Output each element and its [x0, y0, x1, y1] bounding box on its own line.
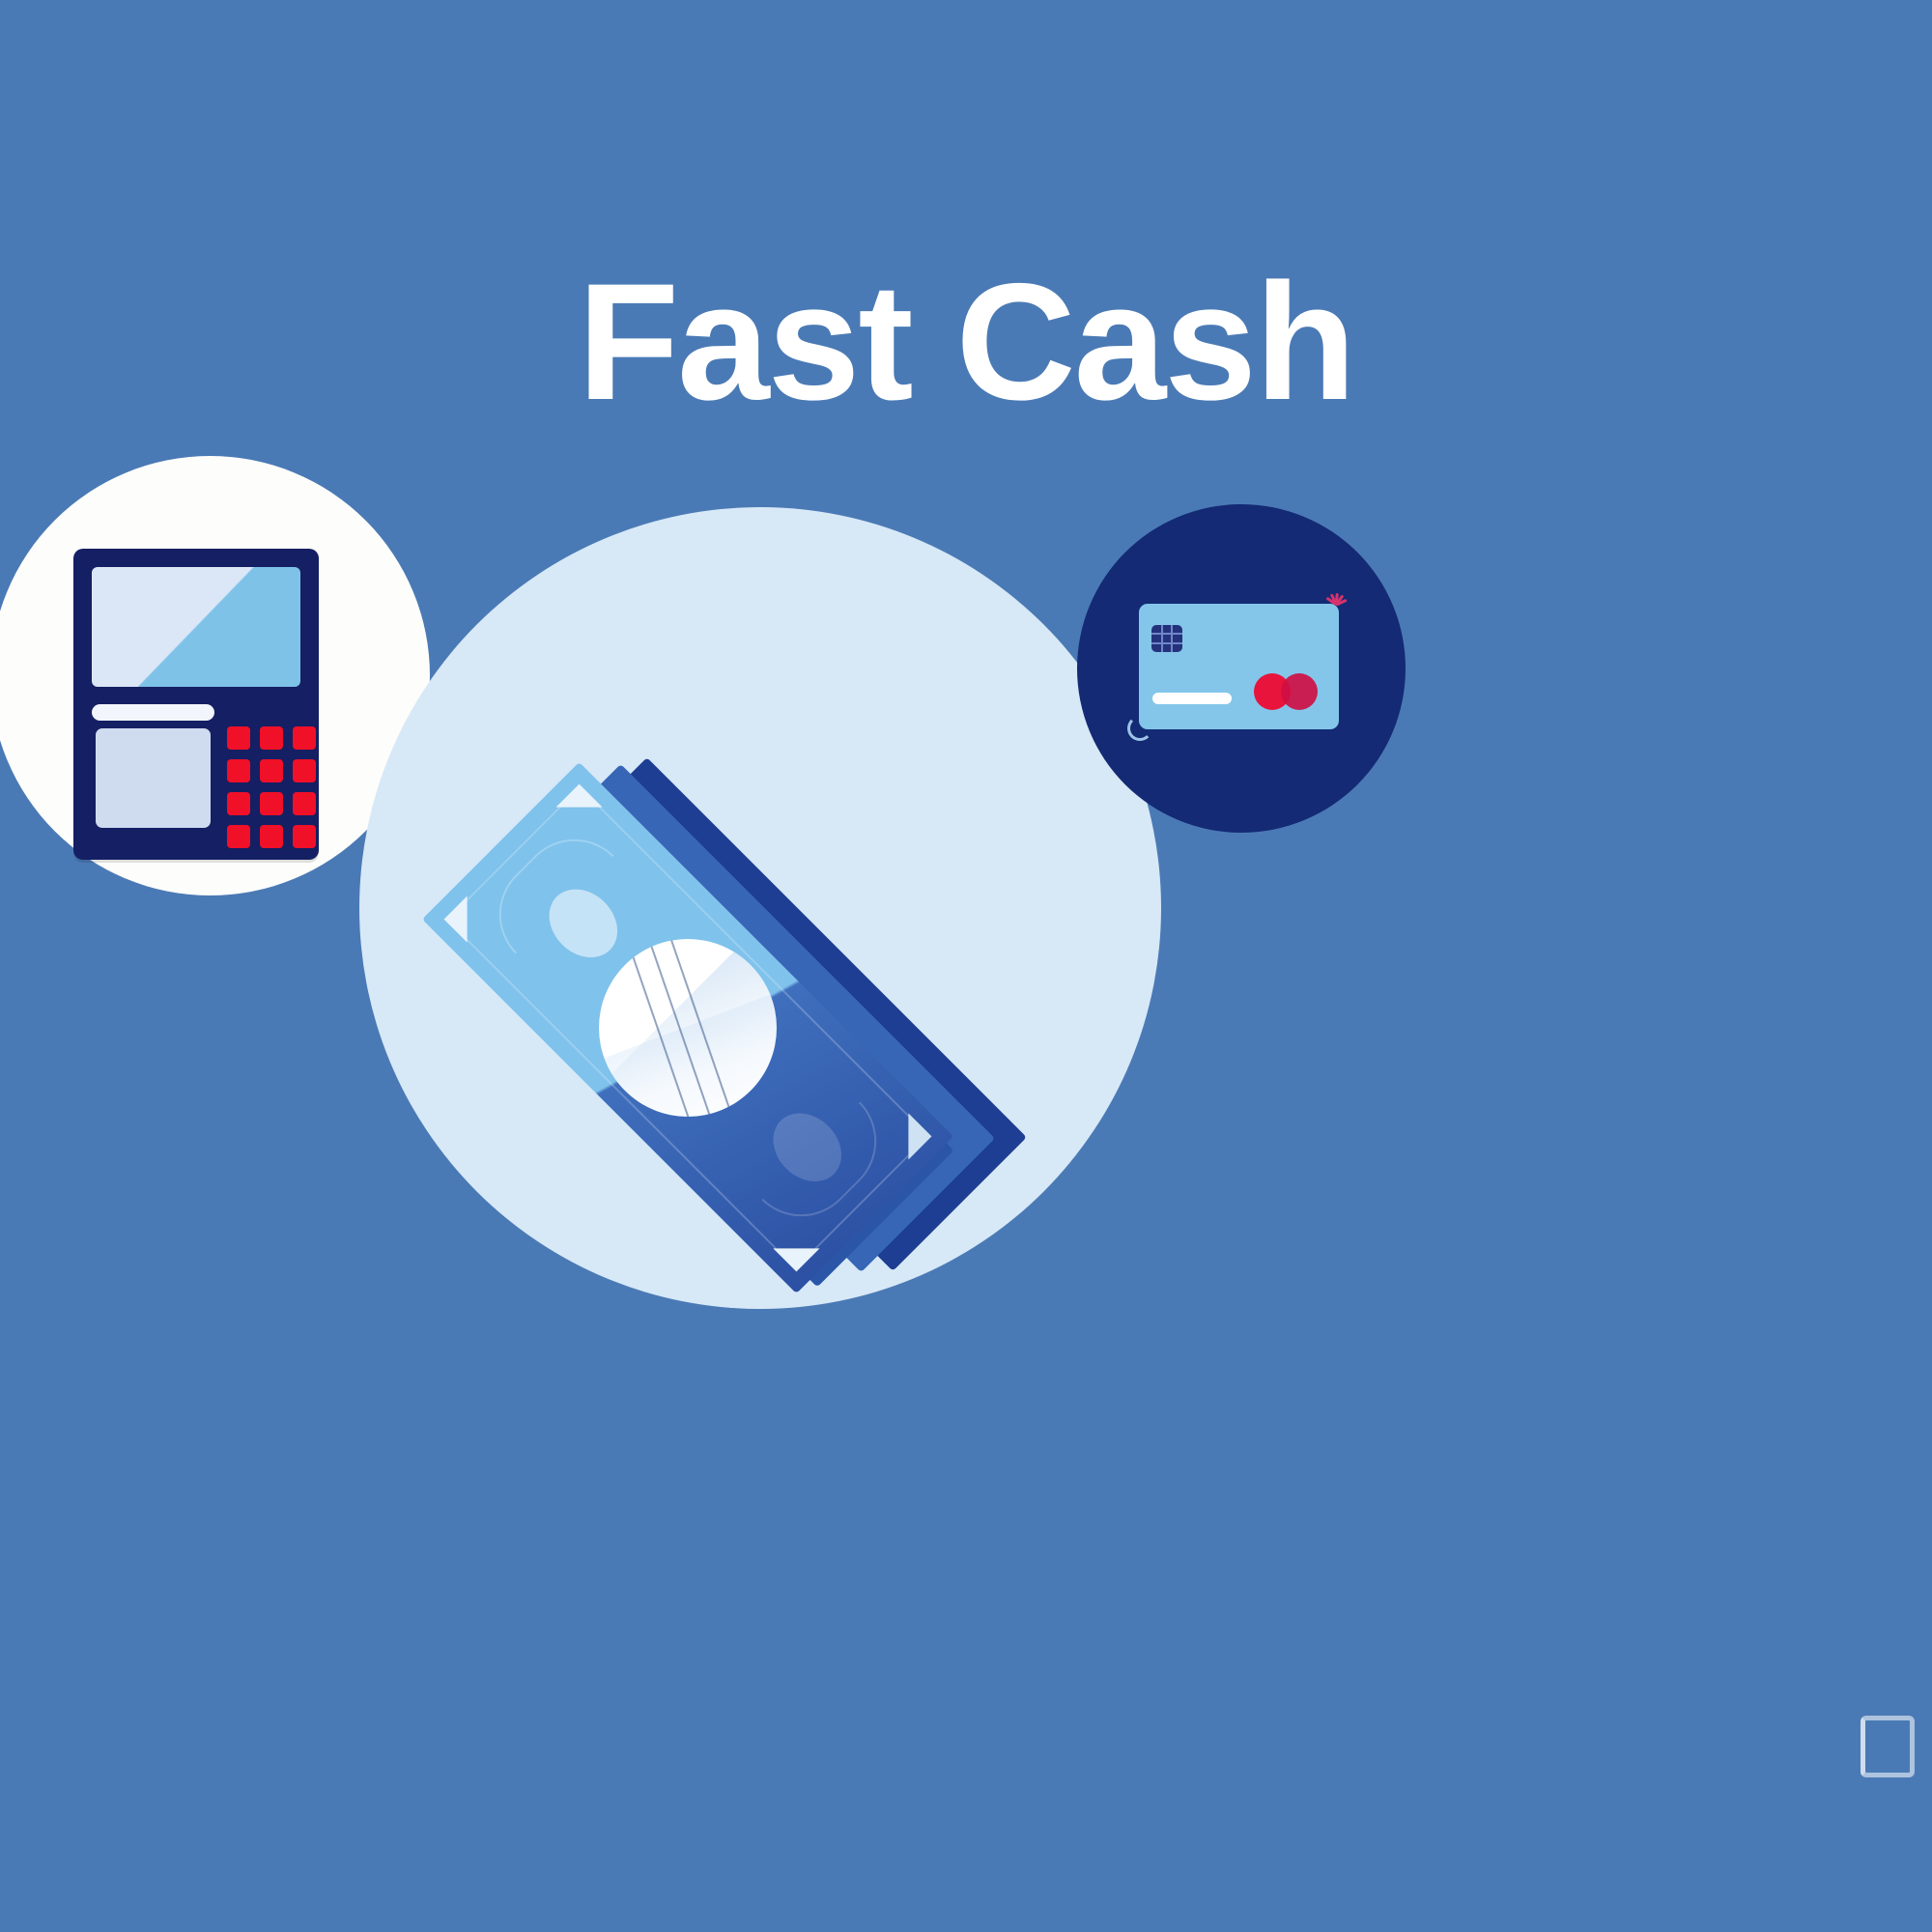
atm-key	[293, 792, 316, 815]
atm-screen	[92, 567, 300, 687]
atm-keypad	[227, 726, 316, 848]
atm-key	[227, 792, 250, 815]
atm-key	[293, 759, 316, 782]
contactless-icon	[1320, 588, 1352, 621]
scene-canvas: Fast Cash	[0, 0, 1932, 1932]
atm-key	[260, 792, 283, 815]
atm-machine-icon	[73, 549, 319, 860]
atm-key	[227, 759, 250, 782]
atm-key	[293, 726, 316, 750]
atm-key	[260, 759, 283, 782]
atm-key	[227, 726, 250, 750]
atm-key	[260, 825, 283, 848]
atm-cash-dispenser	[96, 728, 211, 828]
card-network-logo	[1254, 673, 1318, 710]
atm-key	[227, 825, 250, 848]
atm-key	[260, 726, 283, 750]
card-chip-icon	[1151, 625, 1182, 652]
card-number-bar	[1152, 693, 1232, 704]
banknote-stack-icon	[432, 618, 1108, 1294]
atm-key	[293, 825, 316, 848]
card-accent-arc	[1127, 716, 1152, 741]
page-title: Fast Cash	[0, 259, 1932, 425]
debit-card-icon	[1139, 604, 1339, 729]
corner-watermark-icon	[1861, 1716, 1915, 1777]
atm-card-slot	[92, 704, 214, 721]
